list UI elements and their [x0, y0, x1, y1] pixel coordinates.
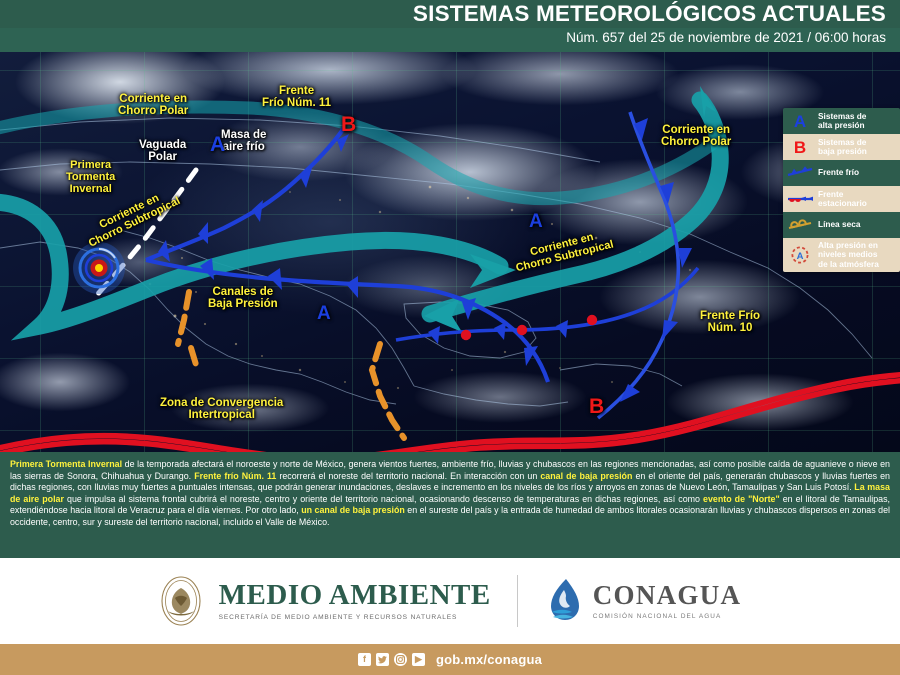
- bulletin-highlight: Frente frío Núm. 11: [194, 471, 276, 481]
- footer-logos: MEDIO AMBIENTE SECRETARÍA DE MEDIO AMBIE…: [0, 558, 900, 644]
- legend-label: Sistemas de alta presión: [818, 112, 866, 131]
- low-pressure-troughs: [178, 292, 404, 438]
- legend-row-high-pressure-A[interactable]: ASistemas de alta presión: [783, 108, 900, 134]
- weather-systems-layer: [0, 52, 900, 452]
- legend-label: Frente estacionario: [818, 190, 867, 209]
- conagua-title: CONAGUA: [593, 582, 742, 609]
- medio-ambiente-title: MEDIO AMBIENTE: [219, 581, 491, 610]
- winter-storm-low-symbol: [73, 242, 125, 294]
- pressure-marker-high-a-east: A: [529, 212, 543, 231]
- youtube-icon[interactable]: ▶: [412, 653, 425, 666]
- conagua-wordmark: CONAGUA COMISIÓN NACIONAL DEL AGUA: [593, 582, 742, 620]
- eagle-seal-svg: [160, 576, 202, 626]
- low-pressure-B-icon: B: [786, 137, 814, 157]
- legend-label: Sistemas de baja presión: [818, 138, 867, 157]
- mexican-eagle-seal-icon: [159, 575, 203, 627]
- pressure-marker-low-b-southeast: B: [589, 396, 604, 417]
- weather-bulletin-page: SISTEMAS METEOROLÓGICOS ACTUALES Núm. 65…: [0, 0, 900, 675]
- itcz-line: [0, 374, 900, 452]
- high-pressure-A-icon: A: [786, 111, 814, 131]
- legend-label: Línea seca: [818, 220, 860, 229]
- conagua-logo-block: CONAGUA COMISIÓN NACIONAL DEL AGUA: [544, 576, 742, 626]
- instagram-icon[interactable]: [394, 653, 407, 666]
- facebook-icon[interactable]: f: [358, 653, 371, 666]
- stationary-front-icon: [786, 189, 814, 209]
- bulletin-highlight: Primera Tormenta Invernal: [10, 459, 122, 469]
- bulletin-highlight: evento de "Norte": [703, 494, 780, 504]
- legend-row-low-pressure-B[interactable]: BSistemas de baja presión: [783, 134, 900, 160]
- header-subtitle: Núm. 657 del 25 de noviembre de 2021 / 0…: [566, 30, 886, 45]
- bulletin-text: que impulsa al sistema frontal cubrirá e…: [64, 494, 703, 504]
- bulletin-text-panel: Primera Tormenta Invernal de la temporad…: [0, 452, 900, 558]
- footer-social-bar: f ▶ gob.mx/conagua: [0, 644, 900, 675]
- mid-level-high-icon: A: [786, 245, 814, 265]
- pressure-marker-high-a-center: A: [317, 304, 331, 323]
- conagua-water-drop-icon: [544, 576, 584, 626]
- bulletin-paragraph: Primera Tormenta Invernal de la temporad…: [10, 459, 890, 528]
- legend-row-mid-level-high[interactable]: AAlta presión en niveles medios de la at…: [783, 238, 900, 272]
- page-title: SISTEMAS METEOROLÓGICOS ACTUALES: [413, 1, 886, 27]
- twitter-icon[interactable]: [376, 653, 389, 666]
- legend-label: Alta presión en niveles medios de la atm…: [818, 241, 879, 269]
- pressure-marker-high-a-north: A: [210, 134, 225, 155]
- satellite-weather-map[interactable]: Corriente en Chorro PolarFrente Frío Núm…: [0, 52, 900, 452]
- svg-text:A: A: [797, 251, 804, 262]
- cold-front-icon: [786, 163, 814, 183]
- logo-group: MEDIO AMBIENTE SECRETARÍA DE MEDIO AMBIE…: [159, 575, 742, 627]
- page-header: SISTEMAS METEOROLÓGICOS ACTUALES Núm. 65…: [0, 0, 900, 52]
- bulletin-text: recorrerá el noreste del territorio naci…: [276, 471, 540, 481]
- legend-row-stationary-front[interactable]: Frente estacionario: [783, 186, 900, 212]
- logo-divider: [517, 575, 518, 627]
- medio-ambiente-subtitle: SECRETARÍA DE MEDIO AMBIENTE Y RECURSOS …: [219, 614, 491, 621]
- website-url[interactable]: gob.mx/conagua: [436, 652, 542, 667]
- dry-line-icon: [786, 215, 814, 235]
- pressure-marker-low-b-north: B: [341, 114, 356, 135]
- legend-row-cold-front[interactable]: Frente frío: [783, 160, 900, 186]
- map-legend[interactable]: ASistemas de alta presiónBSistemas de ba…: [783, 108, 900, 272]
- conagua-subtitle: COMISIÓN NACIONAL DEL AGUA: [593, 613, 742, 620]
- legend-row-dry-line[interactable]: Línea seca: [783, 212, 900, 238]
- bulletin-highlight: canal de baja presión: [540, 471, 632, 481]
- legend-label: Frente frío: [818, 168, 859, 177]
- bulletin-highlight: un canal de baja presión: [301, 505, 405, 515]
- medio-ambiente-wordmark: MEDIO AMBIENTE SECRETARÍA DE MEDIO AMBIE…: [219, 581, 491, 621]
